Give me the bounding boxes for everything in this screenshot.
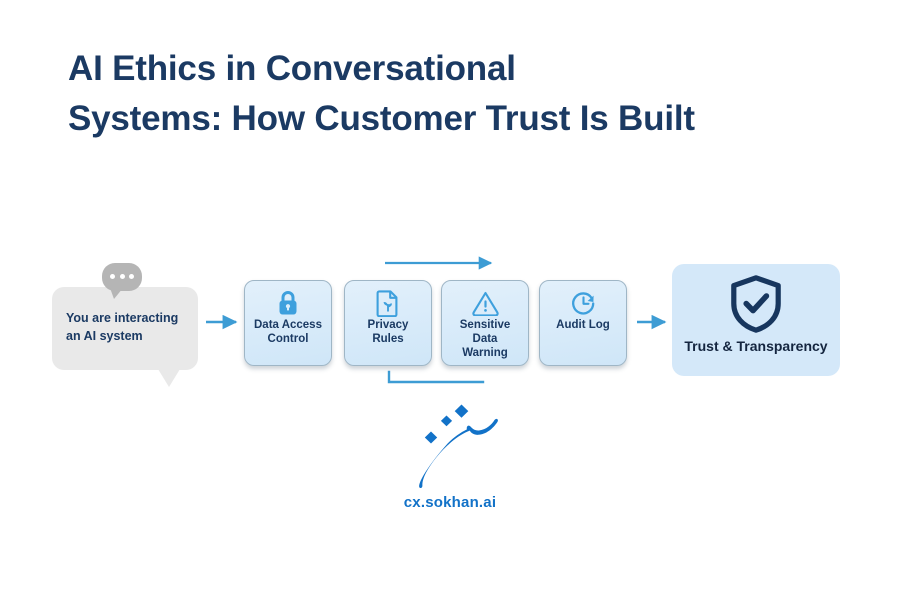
chat-bubble-icon	[102, 263, 144, 297]
outcome-card-trust-transparency[interactable]: Trust & Transparency	[672, 264, 840, 376]
step-label-line-3: Warning	[445, 346, 525, 360]
shield-check-icon	[672, 276, 840, 332]
step-card-audit-log[interactable]: Audit Log	[539, 280, 627, 366]
step-label-line-1: Audit Log	[543, 318, 623, 332]
ai-disclosure-bubble: You are interacting an AI system	[52, 287, 198, 370]
step-label-line-1: Privacy	[348, 318, 428, 332]
step-label-line-1: Sensitive	[445, 318, 525, 332]
lock-icon	[245, 288, 331, 318]
brand-logo: cx.sokhan.ai	[0, 398, 900, 511]
step-card-label: Sensitive Data Warning	[445, 318, 525, 360]
step-label-line-2: Rules	[348, 332, 428, 346]
privacy-document-icon	[345, 288, 431, 318]
bubble-tail	[158, 369, 180, 387]
brand-logo-text: cx.sokhan.ai	[0, 494, 900, 511]
step-card-label: Data Access Control	[248, 318, 328, 346]
sokhan-calligraphy-logo	[398, 398, 502, 490]
step-card-privacy-rules[interactable]: Privacy Rules	[344, 280, 432, 366]
step-label-line-1: Data Access	[248, 318, 328, 332]
step-card-sensitive-data-warning[interactable]: Sensitive Data Warning	[441, 280, 529, 366]
step-card-data-access-control[interactable]: Data Access Control	[244, 280, 332, 366]
ai-disclosure-line-2: an AI system	[66, 327, 190, 345]
step-card-label: Audit Log	[543, 318, 623, 332]
connector-feedback-bottom	[389, 372, 483, 382]
step-label-line-2: Data	[445, 332, 525, 346]
ai-disclosure-line-1: You are interacting	[66, 309, 190, 327]
clock-history-icon	[540, 288, 626, 318]
ai-disclosure-text: You are interacting an AI system	[66, 309, 190, 345]
step-label-line-2: Control	[248, 332, 328, 346]
outcome-card-label: Trust & Transparency	[672, 338, 840, 354]
warning-triangle-icon	[442, 288, 528, 318]
step-card-label: Privacy Rules	[348, 318, 428, 346]
